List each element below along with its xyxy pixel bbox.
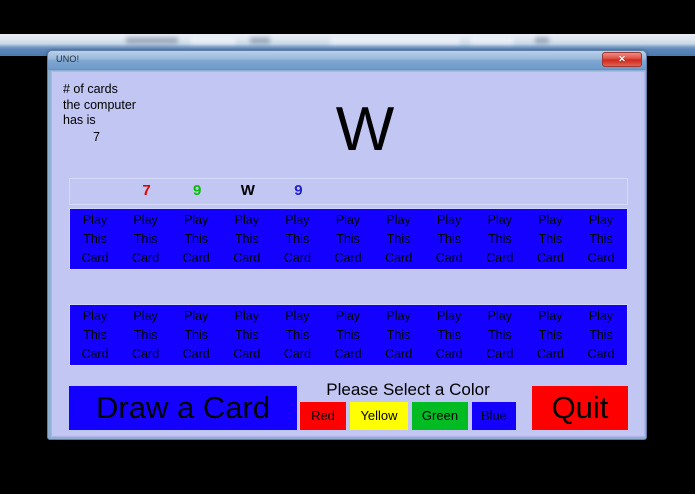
- play-this-card-button[interactable]: Play This Card: [424, 209, 474, 269]
- play-this-card-button[interactable]: Play This Card: [576, 209, 626, 269]
- play-this-card-button[interactable]: Play This Card: [525, 305, 575, 365]
- play-this-card-button[interactable]: Play This Card: [525, 209, 575, 269]
- draw-a-card-button[interactable]: Draw a Card: [69, 386, 297, 430]
- color-prompt-label: Please Select a Color: [297, 380, 519, 400]
- color-button-green[interactable]: Green: [412, 402, 468, 430]
- play-this-card-button[interactable]: Play This Card: [424, 305, 474, 365]
- desktop-background: UNO! ✕ # of cards the computer has is 7 …: [0, 0, 695, 494]
- hand-card-value: W: [223, 181, 273, 201]
- player-hand-values: 79W9: [69, 178, 628, 205]
- play-this-card-button[interactable]: Play This Card: [222, 305, 272, 365]
- hand-card-value: 7: [122, 181, 172, 201]
- hand-card-value: 9: [273, 181, 323, 201]
- computer-card-count-value: 7: [63, 129, 193, 146]
- quit-button[interactable]: Quit: [532, 386, 628, 430]
- play-this-card-button[interactable]: Play This Card: [121, 305, 171, 365]
- uno-application-window: UNO! ✕ # of cards the computer has is 7 …: [47, 50, 647, 440]
- play-this-card-button[interactable]: Play This Card: [70, 209, 120, 269]
- play-this-card-button[interactable]: Play This Card: [121, 209, 171, 269]
- color-button-red[interactable]: Red: [300, 402, 346, 430]
- play-button-row-2: Play This CardPlay This CardPlay This Ca…: [69, 304, 628, 366]
- play-this-card-button[interactable]: Play This Card: [323, 209, 373, 269]
- game-client-area: # of cards the computer has is 7 W 79W9 …: [51, 71, 645, 437]
- color-button-blue[interactable]: Blue: [472, 402, 516, 430]
- window-title: UNO!: [56, 54, 79, 64]
- close-icon[interactable]: ✕: [602, 52, 642, 67]
- play-this-card-button[interactable]: Play This Card: [70, 305, 120, 365]
- play-this-card-button[interactable]: Play This Card: [171, 305, 221, 365]
- play-this-card-button[interactable]: Play This Card: [475, 209, 525, 269]
- play-this-card-button[interactable]: Play This Card: [222, 209, 272, 269]
- play-this-card-button[interactable]: Play This Card: [374, 209, 424, 269]
- play-this-card-button[interactable]: Play This Card: [272, 209, 322, 269]
- play-this-card-button[interactable]: Play This Card: [576, 305, 626, 365]
- hand-card-value: 9: [172, 181, 222, 201]
- play-this-card-button[interactable]: Play This Card: [374, 305, 424, 365]
- title-bar: UNO! ✕: [48, 51, 646, 70]
- play-this-card-button[interactable]: Play This Card: [323, 305, 373, 365]
- computer-card-count-label: # of cards the computer has is: [63, 82, 136, 127]
- play-this-card-button[interactable]: Play This Card: [171, 209, 221, 269]
- play-this-card-button[interactable]: Play This Card: [475, 305, 525, 365]
- close-glyph: ✕: [618, 55, 626, 64]
- play-button-row-1: Play This CardPlay This CardPlay This Ca…: [69, 208, 628, 270]
- play-this-card-button[interactable]: Play This Card: [272, 305, 322, 365]
- discard-pile-card: W: [275, 99, 455, 161]
- color-selection-group: RedYellowGreenBlue: [300, 402, 516, 430]
- color-button-yellow[interactable]: Yellow: [350, 402, 408, 430]
- computer-card-count: # of cards the computer has is 7: [63, 82, 193, 146]
